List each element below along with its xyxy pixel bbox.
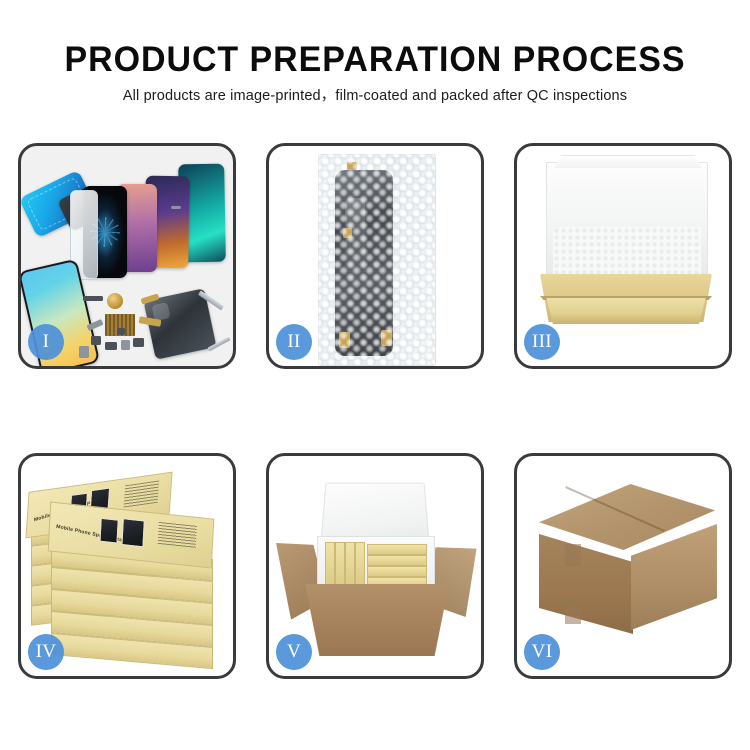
step-badge-4: IV xyxy=(28,634,64,670)
product-preparation-infographic: PRODUCT PREPARATION PROCESS All products… xyxy=(0,0,750,750)
part-bracket-d xyxy=(121,340,130,350)
process-step-3: III xyxy=(514,143,732,369)
carton-body xyxy=(305,584,449,656)
packed-box-1 xyxy=(325,542,335,586)
part-sim-tray xyxy=(79,346,89,358)
process-step-2: II xyxy=(266,143,484,369)
flex-tab-bottom-left xyxy=(339,332,350,348)
process-step-6: VI xyxy=(514,453,732,679)
page-subtitle: All products are image-printed，film-coat… xyxy=(0,87,750,105)
inner-box-front-panel xyxy=(543,298,709,324)
inner-box-lid xyxy=(546,162,708,280)
packed-box-3 xyxy=(345,542,355,586)
packed-box-2 xyxy=(335,542,345,586)
part-bracket-b xyxy=(91,336,101,345)
page-title: PRODUCT PREPARATION PROCESS xyxy=(11,40,739,80)
part-flex-strip xyxy=(83,296,103,301)
part-bracket-c xyxy=(105,342,117,350)
carton-tape-lower xyxy=(565,604,581,624)
packed-box-4 xyxy=(355,542,365,586)
packed-box-7 xyxy=(367,566,427,577)
step-badge-3: III xyxy=(524,324,560,360)
box-artwork-swatch-front-1 xyxy=(99,518,118,544)
process-step-4: Mobile Phone Spare Parts Mobile Phone Sp… xyxy=(18,453,236,679)
process-step-grid: I II III xyxy=(18,143,732,679)
step-badge-5: V xyxy=(276,634,312,670)
carton-left-face xyxy=(539,534,633,634)
part-chip-small xyxy=(117,328,125,335)
page-header: PRODUCT PREPARATION PROCESS All products… xyxy=(0,40,750,105)
part-coin-speaker xyxy=(107,293,123,309)
flex-tab-bottom-right xyxy=(381,330,392,346)
step-badge-2: II xyxy=(276,324,312,360)
box-spec-lines-front xyxy=(158,522,197,550)
packed-box-5 xyxy=(367,544,427,555)
flex-tab-mid xyxy=(343,228,352,238)
box-artwork-swatch-front-2 xyxy=(121,518,144,547)
carton-tape-upper xyxy=(565,544,581,566)
box-spec-lines-back xyxy=(124,481,160,508)
part-speaker-mesh xyxy=(171,206,181,209)
wrapped-phone-part xyxy=(335,170,393,356)
process-step-1: I xyxy=(18,143,236,369)
flex-tab-top xyxy=(347,162,357,170)
part-camera-module xyxy=(133,338,144,347)
packed-box-6 xyxy=(367,555,427,566)
process-step-5: V xyxy=(266,453,484,679)
step-badge-6: VI xyxy=(524,634,560,670)
step-badge-1: I xyxy=(28,324,64,360)
